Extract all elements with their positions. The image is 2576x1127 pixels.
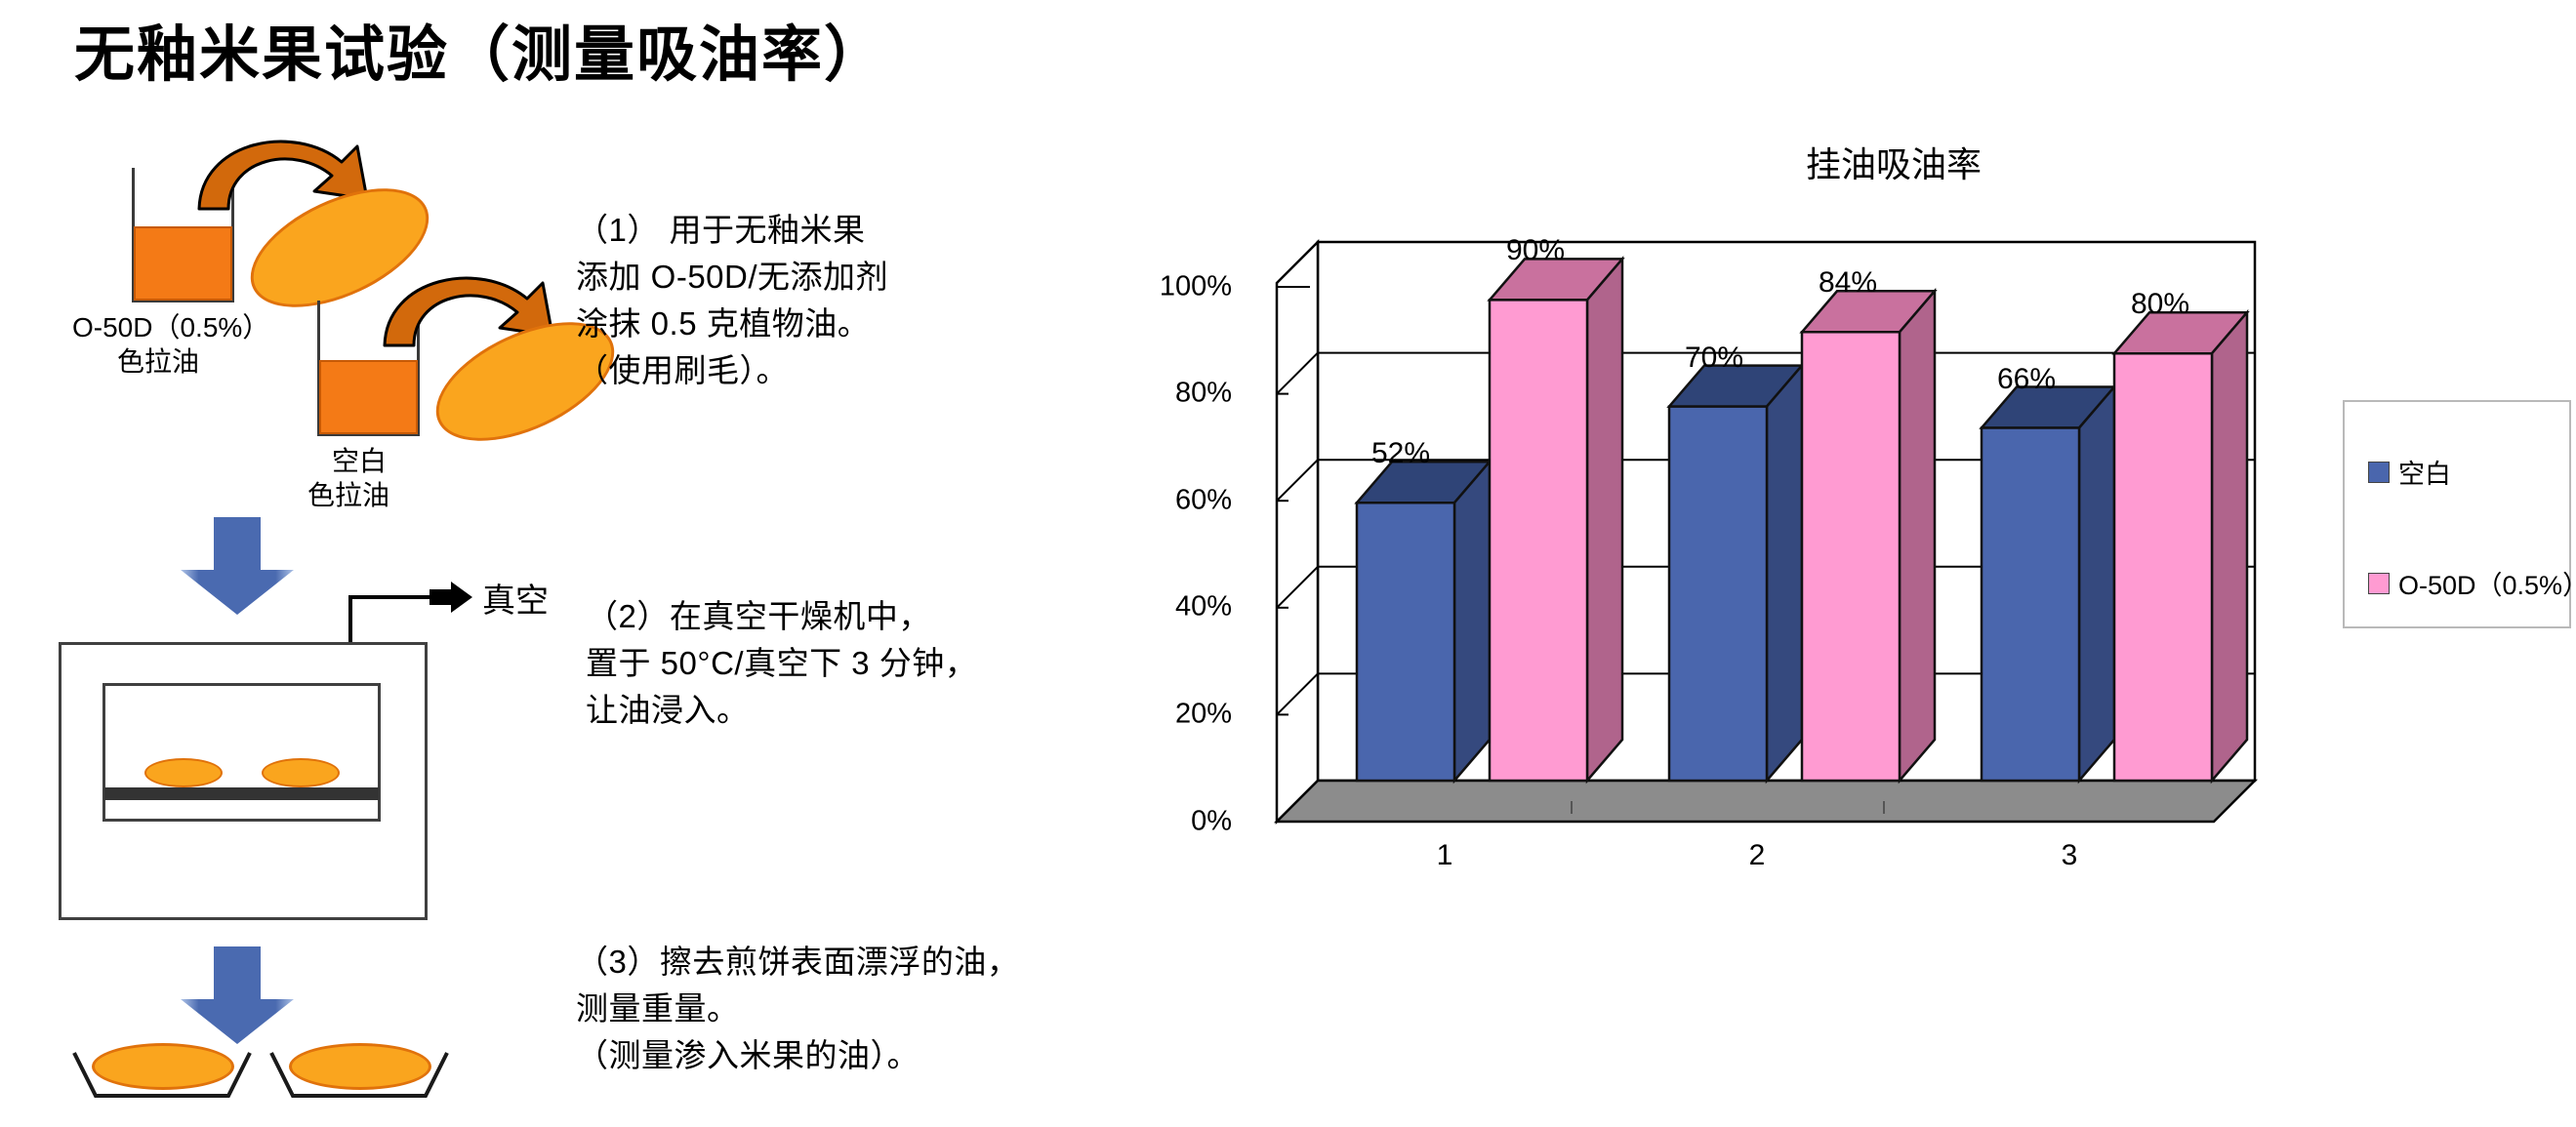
beaker-blank-label: 空白 色拉油	[329, 444, 389, 512]
beaker-rim-left	[317, 301, 320, 336]
x-tick-2: 2	[1749, 839, 1766, 872]
y-tick-60: 60%	[1064, 485, 1259, 517]
chart-legend: 空白 O-50D（0.5%）	[2343, 400, 2571, 628]
y-tick-80: 80%	[1064, 378, 1259, 410]
bar-o50d-2	[1802, 291, 1935, 781]
bar-blank-3	[1982, 387, 2114, 782]
data-label-o50d-2: 84%	[1819, 266, 1877, 300]
x-tick-1: 1	[1437, 839, 1453, 872]
vacuum-label: 真空	[482, 574, 549, 622]
beaker-o50d-label-line1: O-50D（0.5%）	[72, 312, 269, 342]
x-tick-3: 3	[2062, 839, 2078, 872]
bar-blank-2	[1669, 366, 1802, 781]
dryer-shelf	[104, 787, 379, 800]
beaker-oil	[134, 226, 232, 301]
bar-o50d-3	[2114, 312, 2247, 781]
tray-cracker-1	[92, 1043, 234, 1090]
beaker-blank-label-line1: 空白	[332, 446, 387, 476]
tray-cracker-2	[289, 1043, 431, 1090]
data-label-o50d-1: 90%	[1506, 234, 1565, 267]
bar-blank-1	[1357, 462, 1490, 781]
down-arrow-2	[179, 946, 296, 1046]
vacuum-pipe-vertical	[348, 595, 352, 646]
oil-absorption-chart: 挂油吸油率	[1259, 98, 2576, 1083]
step-1-text: （1） 用于无釉米果 添加 O-50D/无添加剂 涂抹 0.5 克植物油。 （使…	[576, 207, 888, 393]
vacuum-pipe-horizontal	[348, 595, 438, 599]
beaker-oil	[319, 360, 418, 434]
data-label-blank-3: 66%	[1997, 363, 2056, 396]
beaker-o50d-label-line2: 色拉油	[72, 344, 199, 379]
step-3-text: （3）擦去煎饼表面漂浮的油， 测量重量。 （测量渗入米果的油）。	[576, 939, 1019, 1079]
y-tick-0: 0%	[1064, 806, 1259, 838]
legend-swatch-blank	[2368, 462, 2390, 483]
y-tick-20: 20%	[1064, 699, 1259, 731]
beaker-blank-label-line2: 色拉油	[307, 478, 389, 512]
data-label-blank-2: 70%	[1685, 342, 1743, 375]
data-label-o50d-3: 80%	[2131, 288, 2189, 321]
chart-plot-area: 100% 80% 60% 40% 20% 0% 1 2 3 52% 90% 70…	[1259, 224, 2274, 849]
bar-o50d-1	[1490, 259, 1622, 781]
experiment-diagram: O-50D（0.5%） 色拉油 空白 色拉油 真空	[0, 107, 1220, 1127]
y-tick-40: 40%	[1064, 591, 1259, 624]
dryer-cracker-2	[262, 758, 340, 787]
page-title: 无釉米果试验（测量吸油率）	[74, 25, 886, 86]
chart-3d-canvas	[1259, 224, 2274, 888]
step-2-text: （2）在真空干燥机中， 置于 50°C/真空下 3 分钟， 让油浸入。	[586, 593, 977, 734]
beaker-o50d-label: O-50D（0.5%） 色拉油	[72, 310, 269, 379]
y-tick-100: 100%	[1064, 271, 1259, 303]
down-arrow-1	[179, 517, 296, 617]
legend-label-o50d: O-50D（0.5%）	[2398, 564, 2576, 602]
chart-title: 挂油吸油率	[1581, 137, 2206, 187]
data-label-blank-1: 52%	[1371, 437, 1430, 470]
legend-item-blank[interactable]: 空白	[2368, 453, 2451, 491]
legend-label-blank: 空白	[2398, 453, 2451, 491]
legend-item-o50d[interactable]: O-50D（0.5%）	[2368, 564, 2576, 602]
beaker-rim-left	[132, 168, 135, 203]
dryer-cracker-1	[144, 758, 223, 787]
legend-swatch-o50d	[2368, 573, 2390, 594]
vacuum-arrow-icon	[429, 582, 474, 615]
vacuum-dryer-chamber	[102, 683, 381, 822]
